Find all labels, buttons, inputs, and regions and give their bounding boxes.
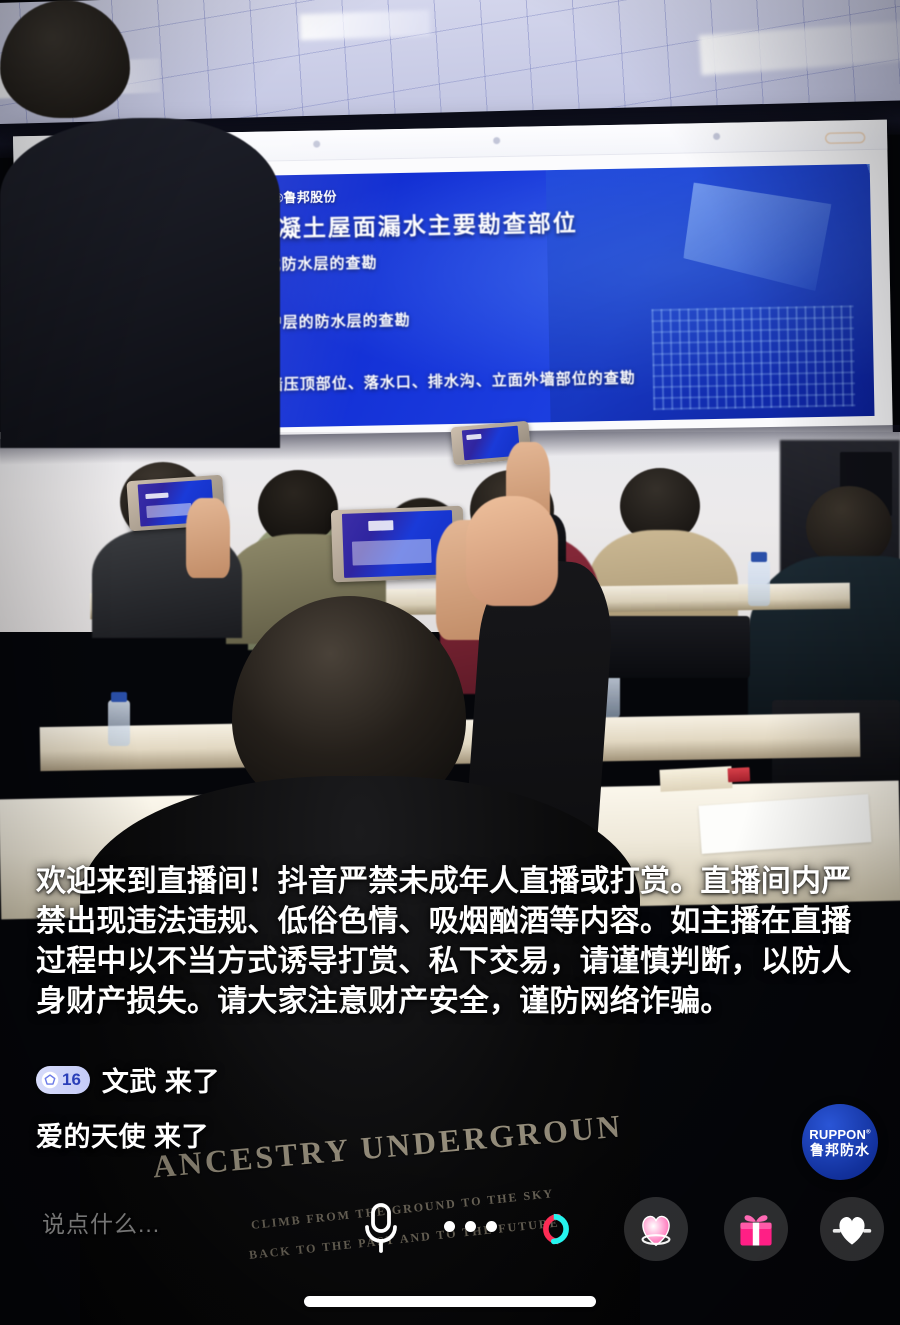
watermark-brand-en: RUPPON® [809,1128,870,1141]
level-number: 16 [62,1071,81,1088]
comment-text: 文武 来了 [102,1060,220,1099]
level-badge: 16 [36,1066,90,1094]
more-button[interactable] [444,1221,497,1232]
pentagon-level-icon [41,1071,59,1089]
comment-item[interactable]: 16 文武 来了 [36,1060,556,1099]
heart-like-icon [830,1207,874,1251]
like-button[interactable] [820,1197,884,1261]
home-indicator[interactable] [304,1296,596,1307]
system-announcement: 欢迎来到直播间！抖音严禁未成年人直播或打赏。直播间内严禁出现违法违规、低俗色情、… [36,862,866,1022]
more-dots-icon [465,1221,476,1232]
more-dots-icon [486,1221,497,1232]
gift-button[interactable] [724,1197,788,1261]
rose-gift-button[interactable] [624,1197,688,1261]
more-dots-icon [444,1221,455,1232]
bottom-action-bar [0,1185,900,1325]
microphone-button[interactable] [356,1201,406,1257]
comment-input[interactable] [42,1211,312,1238]
comment-item[interactable]: 爱的天使 来了 [36,1115,556,1154]
share-link-icon [529,1202,583,1256]
live-overlay: 欢迎来到直播间！抖音严禁未成年人直播或打赏。直播间内严禁出现违法违规、低俗色情、… [0,0,900,1325]
brand-watermark[interactable]: RUPPON® 鲁邦防水 [802,1104,878,1180]
comment-text: 爱的天使 来了 [36,1115,209,1154]
watermark-brand-cn: 鲁邦防水 [810,1143,870,1157]
rose-heart-icon [633,1206,679,1252]
gift-box-icon [734,1207,778,1251]
microphone-icon [356,1201,406,1257]
live-stream-screen: RUPPON®鲁邦股份 混凝土屋面漏水主要勘查部位 对暴露式防水层的查勘 对有保… [0,0,900,1325]
comment-feed[interactable]: 16 文武 来了 爱的天使 来了 [36,1060,556,1170]
share-button[interactable] [524,1197,588,1261]
